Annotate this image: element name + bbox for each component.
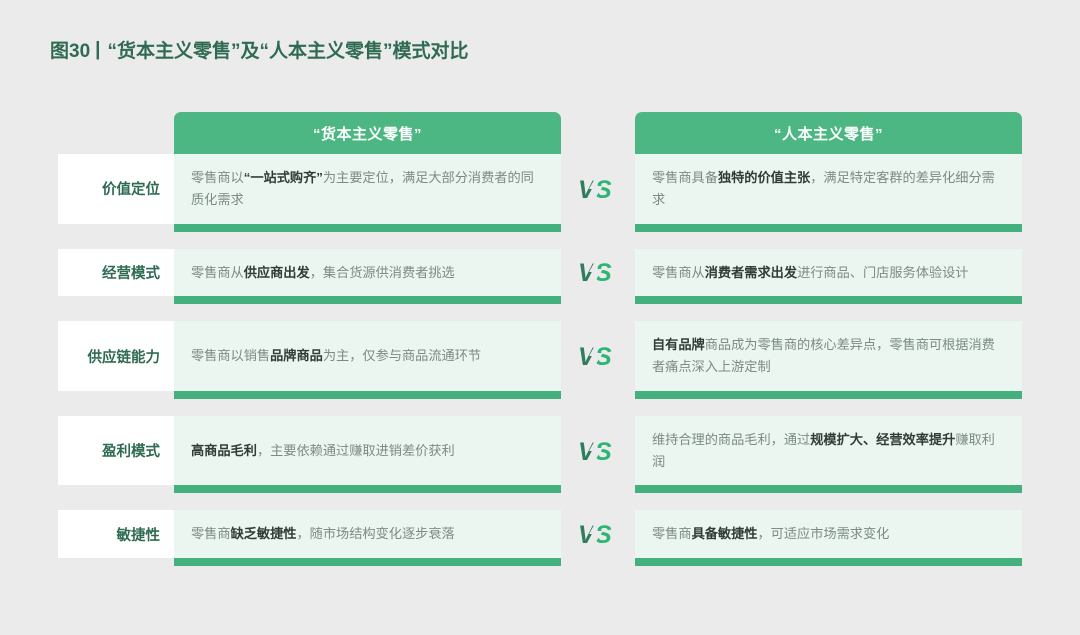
vs-icon-cell-2: VS bbox=[561, 249, 635, 297]
separator-vs-spacer bbox=[561, 296, 635, 310]
separator-vs-spacer bbox=[561, 485, 635, 499]
vs-icon-cell-4: VS bbox=[561, 416, 635, 486]
separator-bar-right bbox=[635, 558, 1022, 572]
figure-page: 图30 | “货本主义零售”及“人本主义零售”模式对比 “货本主义零售” “人本… bbox=[0, 0, 1080, 635]
separator-label-spacer bbox=[58, 391, 174, 405]
row-separator bbox=[58, 296, 1022, 310]
header-left-model: “货本主义零售” bbox=[174, 112, 561, 154]
table-row: 盈利模式高商品毛利，主要依赖通过赚取进销差价获利VS维持合理的商品毛利，通过规模… bbox=[58, 416, 1022, 486]
table-row: 敏捷性零售商缺乏敏捷性，随市场结构变化逐步衰落VS零售商具备敏捷性，可适应市场需… bbox=[58, 510, 1022, 558]
row-separator bbox=[58, 391, 1022, 405]
row-label-4: 盈利模式 bbox=[58, 416, 174, 486]
separator-label-spacer bbox=[58, 485, 174, 499]
table-row: 供应链能力零售商以销售品牌商品为主，仅参与商品流通环节VS自有品牌商品成为零售商… bbox=[58, 321, 1022, 391]
title-separator: | bbox=[95, 39, 100, 61]
page-title: 图30 | “货本主义零售”及“人本主义零售”模式对比 bbox=[50, 36, 468, 63]
vs-lightning-icon: VS bbox=[576, 333, 620, 379]
vs-icon-cell-5: VS bbox=[561, 510, 635, 558]
row-separator bbox=[58, 558, 1022, 572]
vs-icon-cell-3: VS bbox=[561, 321, 635, 391]
row-1-left-cell: 零售商以“一站式购齐”为主要定位，满足大部分消费者的同质化需求 bbox=[174, 154, 561, 224]
row-3-left-cell: 零售商以销售品牌商品为主，仅参与商品流通环节 bbox=[174, 321, 561, 391]
vs-lightning-icon: VS bbox=[576, 511, 620, 557]
row-label-5: 敏捷性 bbox=[58, 510, 174, 558]
vs-lightning-icon: VS bbox=[576, 428, 620, 474]
row-separator bbox=[58, 485, 1022, 499]
separator-vs-spacer bbox=[561, 391, 635, 405]
row-1-right-cell: 零售商具备独特的价值主张，满足特定客群的差异化细分需求 bbox=[635, 154, 1022, 224]
row-separator bbox=[58, 224, 1022, 238]
separator-bar-right bbox=[635, 391, 1022, 405]
header-right-model: “人本主义零售” bbox=[635, 112, 1022, 154]
separator-bar-left bbox=[174, 391, 561, 405]
separator-label-spacer bbox=[58, 224, 174, 238]
table-rows-container: 价值定位零售商以“一站式购齐”为主要定位，满足大部分消费者的同质化需求VS零售商… bbox=[58, 154, 1022, 572]
row-gap bbox=[58, 238, 1022, 249]
figure-title-text: “货本主义零售”及“人本主义零售”模式对比 bbox=[107, 36, 468, 63]
row-gap bbox=[58, 310, 1022, 321]
separator-bar-left bbox=[174, 558, 561, 572]
separator-label-spacer bbox=[58, 296, 174, 310]
row-label-3: 供应链能力 bbox=[58, 321, 174, 391]
separator-bar-right bbox=[635, 485, 1022, 499]
row-label-1: 价值定位 bbox=[58, 154, 174, 224]
row-5-right-cell: 零售商具备敏捷性，可适应市场需求变化 bbox=[635, 510, 1022, 558]
vs-icon-cell-1: VS bbox=[561, 154, 635, 224]
figure-number: 图30 bbox=[50, 36, 90, 63]
separator-vs-spacer bbox=[561, 224, 635, 238]
row-4-left-cell: 高商品毛利，主要依赖通过赚取进销差价获利 bbox=[174, 416, 561, 486]
row-3-right-cell: 自有品牌商品成为零售商的核心差异点，零售商可根据消费者痛点深入上游定制 bbox=[635, 321, 1022, 391]
separator-bar-right bbox=[635, 296, 1022, 310]
vs-lightning-icon: VS bbox=[576, 166, 620, 212]
row-2-left-cell: 零售商从供应商出发，集合货源供消费者挑选 bbox=[174, 249, 561, 297]
table-row: 经营模式零售商从供应商出发，集合货源供消费者挑选VS零售商从消费者需求出发进行商… bbox=[58, 249, 1022, 297]
separator-label-spacer bbox=[58, 558, 174, 572]
table-row: 价值定位零售商以“一站式购齐”为主要定位，满足大部分消费者的同质化需求VS零售商… bbox=[58, 154, 1022, 224]
comparison-table: “货本主义零售” “人本主义零售” 价值定位零售商以“一站式购齐”为主要定位，满… bbox=[58, 112, 1022, 572]
row-gap bbox=[58, 499, 1022, 510]
row-2-right-cell: 零售商从消费者需求出发进行商品、门店服务体验设计 bbox=[635, 249, 1022, 297]
separator-bar-left bbox=[174, 296, 561, 310]
row-4-right-cell: 维持合理的商品毛利，通过规模扩大、经营效率提升赚取利润 bbox=[635, 416, 1022, 486]
table-header-row: “货本主义零售” “人本主义零售” bbox=[58, 112, 1022, 154]
row-gap bbox=[58, 405, 1022, 416]
row-label-2: 经营模式 bbox=[58, 249, 174, 297]
separator-bar-left bbox=[174, 224, 561, 238]
vs-lightning-icon: VS bbox=[576, 249, 620, 295]
separator-bar-left bbox=[174, 485, 561, 499]
separator-bar-right bbox=[635, 224, 1022, 238]
row-5-left-cell: 零售商缺乏敏捷性，随市场结构变化逐步衰落 bbox=[174, 510, 561, 558]
separator-vs-spacer bbox=[561, 558, 635, 572]
